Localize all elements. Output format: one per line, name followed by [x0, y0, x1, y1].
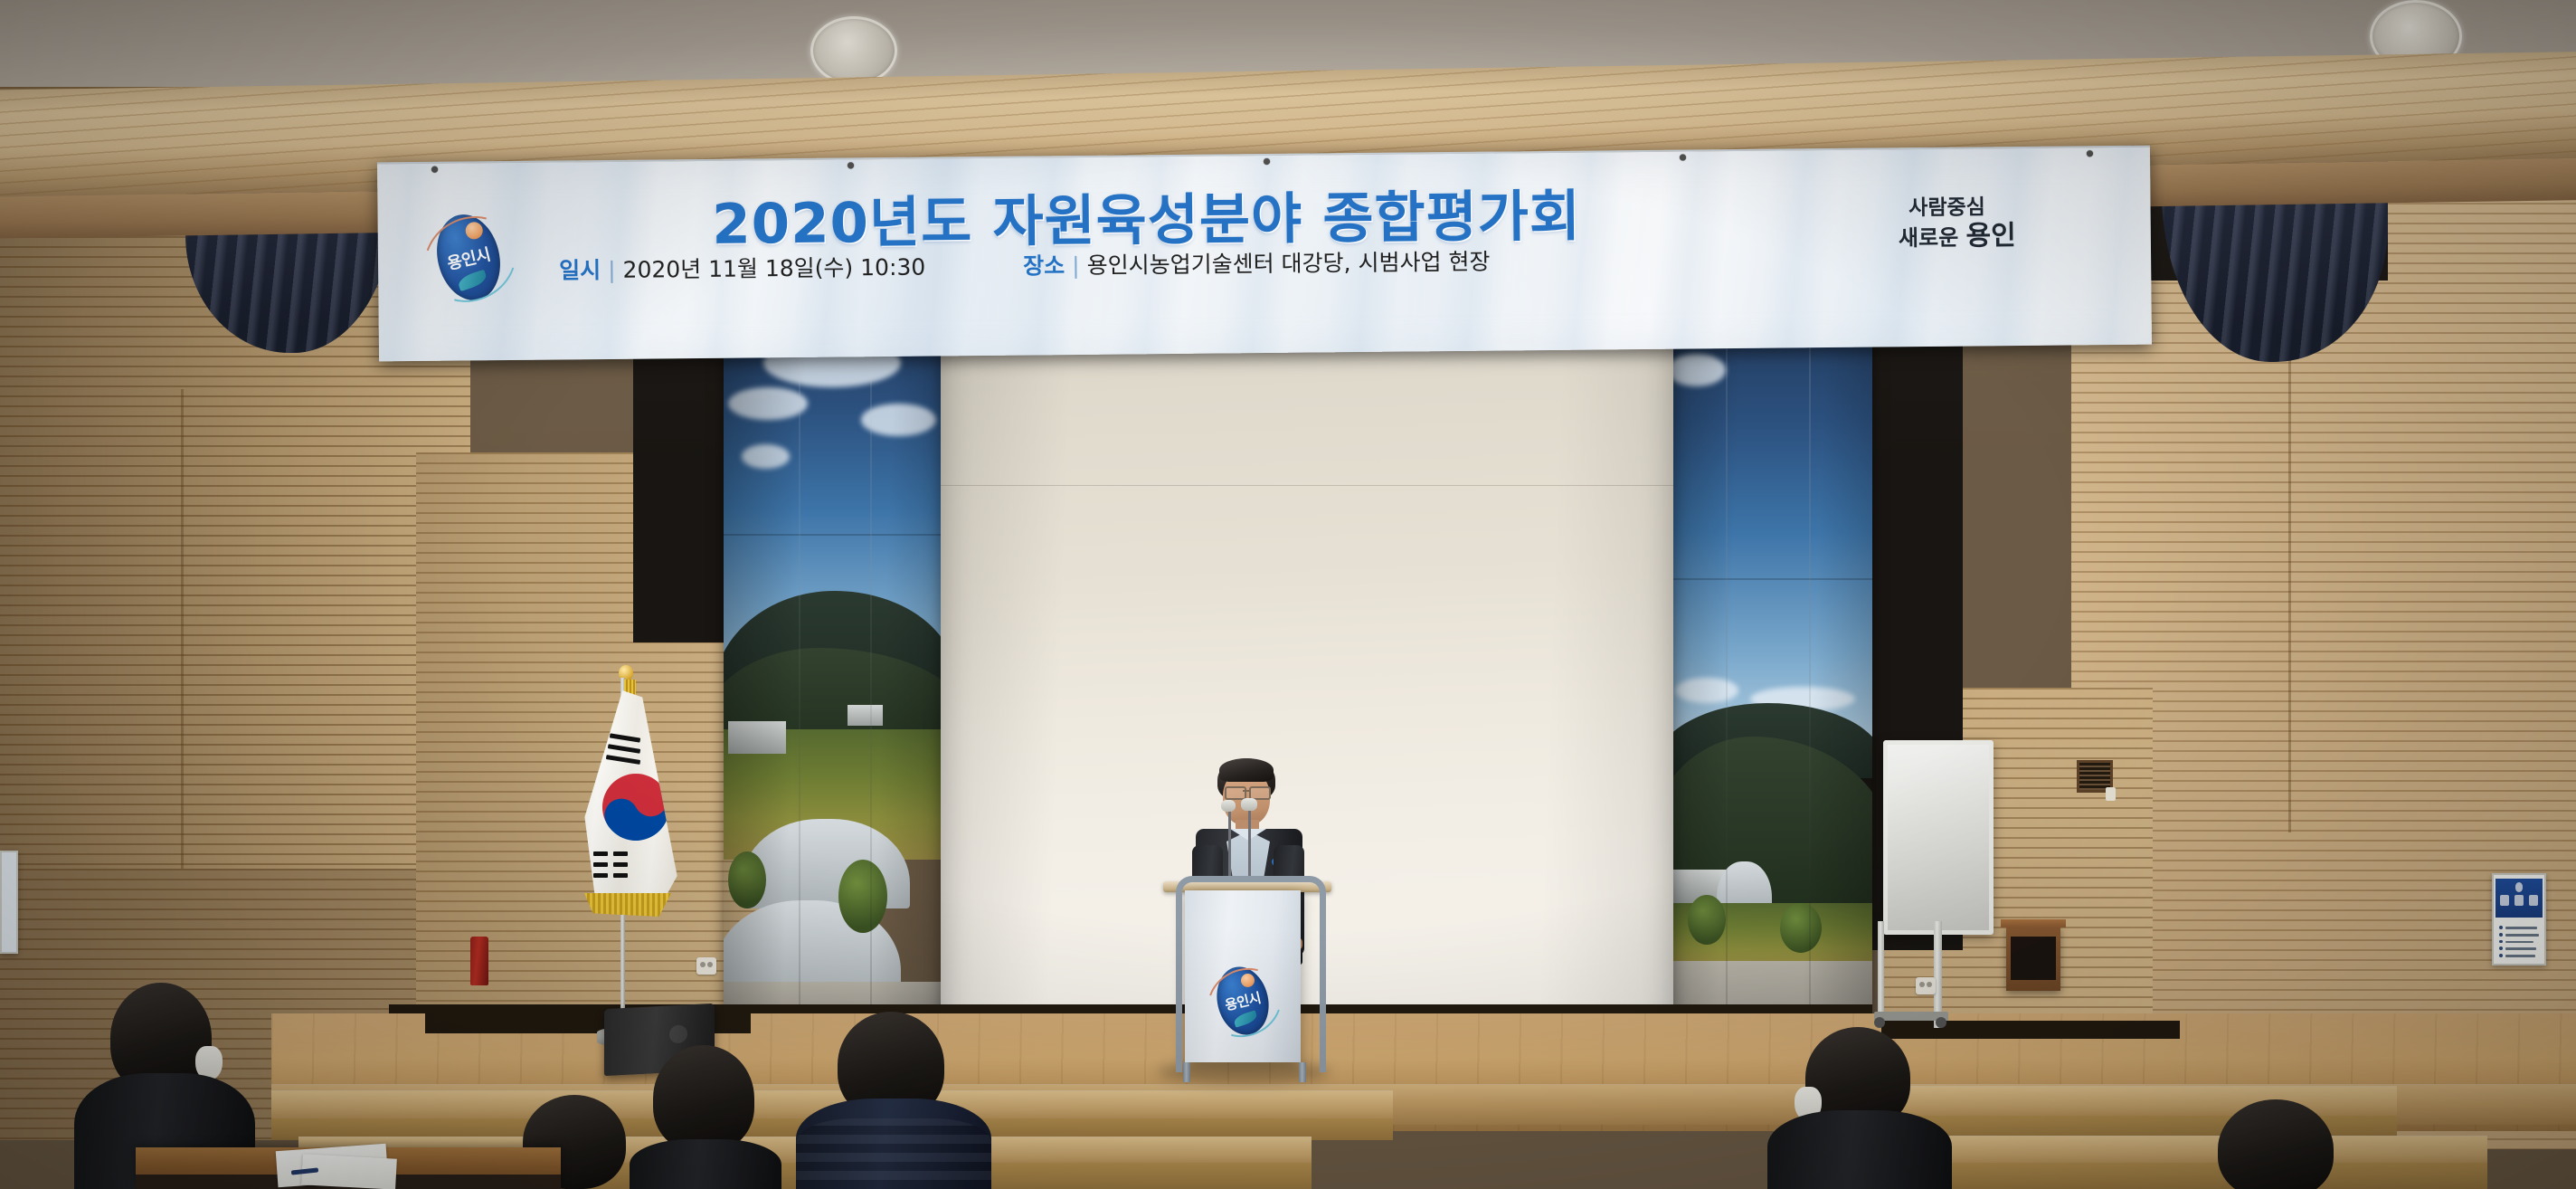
power-outlet	[696, 957, 716, 975]
wall-poster	[2492, 873, 2546, 965]
audience-member	[2198, 1099, 2352, 1189]
poster-bullet	[2499, 946, 2503, 950]
side-table	[2006, 926, 2060, 991]
whiteboard-stand-post	[1878, 921, 1884, 1021]
trigram-gon	[613, 873, 628, 878]
side-table-shelf-gap	[2011, 937, 2056, 980]
banner-place-label: 장소	[1023, 252, 1065, 279]
lectern: 용인시	[1174, 858, 1319, 1080]
audience-member	[633, 1045, 778, 1189]
audience-member	[1773, 1027, 1945, 1189]
outlet-hole-icon	[700, 962, 706, 967]
poster-icon	[2500, 895, 2509, 907]
poster-bullet	[2499, 926, 2503, 929]
banner-date-label: 일시	[559, 257, 601, 283]
south-korean-flag	[561, 665, 724, 1045]
poster-text-line	[2505, 934, 2539, 937]
banner-grommet	[848, 162, 854, 168]
banner-date-value: 2020년 11월 18일(수) 10:30	[622, 254, 925, 283]
trigram-gon	[613, 851, 628, 856]
audience-head	[2218, 1099, 2334, 1189]
whiteboard	[1883, 740, 1994, 935]
trigram-gon	[593, 873, 608, 878]
banner-separator: |	[1072, 252, 1080, 279]
banner-yongin-logo: 용인시	[438, 214, 500, 301]
poster-icon	[2515, 882, 2524, 892]
banner-grommet	[1264, 158, 1270, 165]
poster-icon	[2514, 895, 2524, 907]
poster-bullet	[2499, 954, 2503, 957]
slogan-line-2-big: 용인	[1965, 220, 2016, 252]
banner-grommet	[2087, 150, 2093, 157]
banner-grommet	[1680, 155, 1686, 161]
lectern-leg	[1299, 1062, 1306, 1082]
puffer-jacket-quilting	[796, 1118, 991, 1189]
logo-orange-dot	[466, 222, 483, 239]
trigram-gon	[593, 862, 608, 867]
poster-text-line	[2505, 927, 2537, 929]
trigram-geon	[610, 733, 640, 742]
trigram-geon	[606, 755, 640, 765]
audience-torso	[1767, 1110, 1952, 1189]
fire-extinguisher	[470, 937, 488, 985]
banner-separator: |	[608, 257, 616, 283]
flag-fringe	[584, 893, 671, 917]
poster-bullet	[2499, 933, 2503, 937]
lectern-rail	[1176, 876, 1326, 1072]
power-outlet	[1916, 977, 1936, 994]
audience-member	[807, 1012, 979, 1189]
ceiling-speaker-icon	[810, 16, 897, 85]
outlet-hole-icon	[1927, 982, 1932, 987]
hair-top	[1219, 758, 1274, 782]
flag-cloth	[581, 690, 680, 917]
taeguk-symbol	[591, 762, 680, 852]
eyeglasses-bridge	[1243, 790, 1249, 792]
poster-bullet	[2499, 940, 2503, 944]
photo-scene: 용인시	[0, 0, 2576, 1189]
trigram-gon	[613, 862, 628, 867]
slogan-line-1: 사람중심	[1815, 195, 2078, 222]
slogan-line-2-small: 새로운	[1899, 225, 1959, 252]
poster-text-line	[2505, 947, 2536, 950]
audience-torso	[630, 1139, 781, 1189]
screen-seam	[941, 485, 1673, 486]
side-table-top	[2001, 919, 2066, 927]
trigram-gon	[593, 851, 608, 856]
slogan-line-2: 새로운 용인	[1836, 219, 2079, 253]
wall-poster-left	[0, 851, 18, 954]
audience-head	[653, 1045, 754, 1152]
city-slogan: 사람중심 새로운 용인	[1815, 195, 2079, 253]
banner-place-value: 용인시농업기술센터 대강당, 시범사업 현장	[1087, 249, 1491, 279]
speaker-grill-icon	[669, 1024, 687, 1043]
poster-icon	[2529, 895, 2538, 907]
light-switch	[2106, 787, 2116, 801]
poster-text-line	[2505, 941, 2533, 944]
poster-text-line	[2505, 955, 2534, 957]
microphone-icon	[1221, 800, 1236, 812]
microphone-icon	[1241, 798, 1257, 811]
outlet-hole-icon	[1919, 982, 1925, 987]
banner-grommet	[431, 166, 438, 173]
lectern-leg	[1183, 1062, 1190, 1082]
outlet-hole-icon	[707, 962, 713, 967]
event-banner: 용인시 2020년도 자원육성분야 종합평가회 일시|2020년 11월 18일…	[377, 146, 2152, 362]
trigram-geon	[608, 744, 640, 754]
